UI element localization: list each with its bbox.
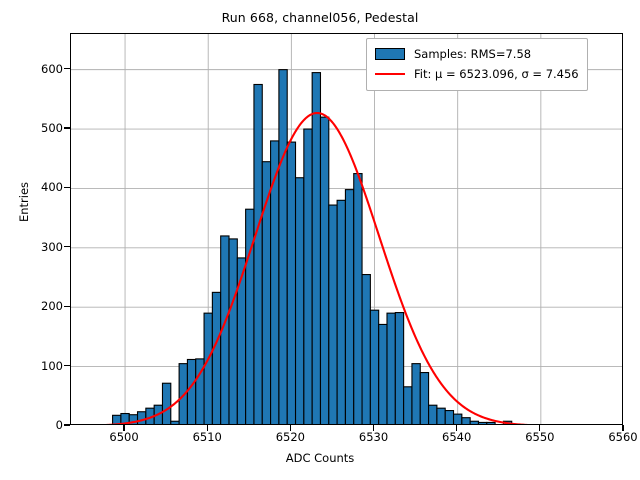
x-tick-mark — [290, 425, 291, 431]
histogram-bar — [254, 84, 262, 425]
y-tick-mark — [64, 306, 70, 307]
y-tick-label: 600 — [41, 62, 63, 76]
histogram-bar — [420, 373, 428, 425]
legend-patch-icon — [375, 48, 405, 60]
histogram-bar — [412, 364, 420, 425]
histogram-bar — [404, 387, 412, 425]
histogram-bar — [345, 190, 353, 425]
histogram-bar — [296, 178, 304, 425]
x-axis-label: ADC Counts — [0, 451, 640, 465]
plot-area — [70, 33, 623, 425]
legend: Samples: RMS=7.58 Fit: μ = 6523.096, σ =… — [366, 38, 588, 91]
legend-item-samples: Samples: RMS=7.58 — [375, 44, 579, 64]
histogram-bar — [329, 205, 337, 425]
x-tick-label: 6510 — [193, 430, 222, 444]
histogram-svg — [71, 34, 623, 425]
histogram-bar — [370, 310, 378, 425]
y-tick-mark — [64, 68, 70, 69]
y-tick-label: 400 — [41, 180, 63, 194]
x-tick-label: 6530 — [359, 430, 388, 444]
x-tick-mark — [207, 425, 208, 431]
histogram-bar — [171, 421, 179, 425]
histogram-bar — [395, 313, 403, 425]
x-tick-label: 6560 — [608, 430, 637, 444]
histogram-bar — [287, 142, 295, 425]
legend-label-fit: Fit: μ = 6523.096, σ = 7.456 — [414, 67, 579, 81]
y-tick-label: 100 — [41, 359, 63, 373]
histogram-bar — [470, 421, 478, 425]
y-axis-ticks: 0100200300400500600 — [0, 0, 63, 480]
y-tick-mark — [64, 127, 70, 128]
histogram-bar — [487, 422, 495, 425]
x-tick-mark — [622, 425, 623, 431]
histogram-bar — [462, 418, 470, 425]
y-tick-label: 0 — [56, 418, 63, 432]
histogram-bar — [204, 313, 212, 425]
histogram-bar — [478, 422, 486, 425]
page-title: Run 668, channel056, Pedestal — [0, 10, 640, 25]
x-tick-label: 6550 — [525, 430, 554, 444]
y-tick-mark — [64, 424, 70, 425]
histogram-bar — [362, 275, 370, 425]
histogram-bar — [229, 239, 237, 425]
histogram-bar — [279, 70, 287, 425]
histogram-bar — [138, 412, 146, 425]
y-tick-label: 200 — [41, 299, 63, 313]
y-tick-label: 300 — [41, 240, 63, 254]
histogram-bar — [387, 313, 395, 425]
legend-line-icon — [375, 68, 405, 80]
histogram-bar — [312, 73, 320, 425]
y-tick-label: 500 — [41, 121, 63, 135]
legend-label-samples: Samples: RMS=7.58 — [414, 47, 531, 61]
x-tick-mark — [123, 425, 124, 431]
x-tick-label: 6500 — [109, 430, 138, 444]
x-tick-mark — [373, 425, 374, 431]
histogram-bar — [429, 405, 437, 425]
y-tick-mark — [64, 365, 70, 366]
histogram-bar — [437, 408, 445, 425]
histogram-bar — [379, 324, 387, 425]
x-tick-label: 6520 — [276, 430, 305, 444]
x-tick-mark — [539, 425, 540, 431]
histogram-bar — [162, 383, 170, 425]
histogram-bar — [304, 129, 312, 425]
figure-canvas: Run 668, channel056, Pedestal Entries AD… — [0, 0, 640, 480]
y-tick-mark — [64, 246, 70, 247]
histogram-bar — [445, 411, 453, 425]
histogram-bar — [212, 292, 220, 425]
histogram-bar — [354, 174, 362, 425]
histogram-bar — [187, 359, 195, 425]
histogram-bar — [454, 414, 462, 425]
histogram-bar — [337, 200, 345, 425]
x-tick-label: 6540 — [442, 430, 471, 444]
legend-item-fit: Fit: μ = 6523.096, σ = 7.456 — [375, 64, 579, 84]
x-tick-mark — [456, 425, 457, 431]
histogram-bar — [320, 117, 328, 425]
y-tick-mark — [64, 187, 70, 188]
